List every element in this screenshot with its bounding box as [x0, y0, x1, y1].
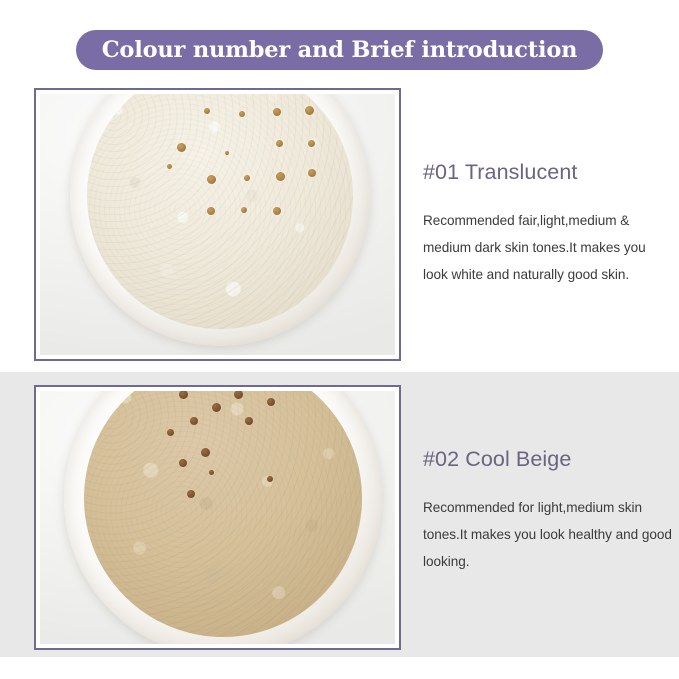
header-banner: Colour number and Brief introduction [76, 30, 604, 70]
sifter-hole-icon [204, 108, 210, 114]
header-banner-container: Colour number and Brief introduction [0, 30, 679, 70]
sifter-hole-icon [167, 164, 172, 169]
shade-description-01: Recommended fair,light,medium & medium d… [423, 208, 673, 289]
sifter-hole-icon [244, 175, 250, 181]
sifter-hole-icon [179, 391, 188, 399]
sifter-hole-icon [239, 111, 245, 117]
page-title: Colour number and Brief introduction [102, 39, 578, 62]
shade-section-02: #02 Cool Beige Recommended for light,med… [0, 385, 679, 650]
shade-text-column-01: #01 Translucent Recommended fair,light,m… [423, 88, 673, 289]
product-photo-02 [40, 391, 395, 644]
sifter-hole-icon [190, 417, 198, 425]
sifter-hole-icon [245, 417, 253, 425]
sifter-hole-icon [179, 459, 187, 467]
powder-jar-01 [70, 94, 370, 346]
sifter-hole-icon [276, 172, 285, 181]
sifter-hole-icon [201, 448, 210, 457]
sifter-hole-icon [308, 169, 316, 177]
sifter-hole-icon [212, 403, 221, 412]
sifter-hole-icon [167, 429, 174, 436]
product-photo-frame-01 [34, 88, 401, 361]
sifter-hole-icon [305, 106, 314, 115]
product-photo-01 [40, 94, 395, 355]
sifter-hole-icon [276, 140, 283, 147]
powder-surface-02 [84, 391, 362, 637]
sifter-hole-icon [273, 108, 281, 116]
shade-text-column-02: #02 Cool Beige Recommended for light,med… [423, 385, 673, 576]
sifter-hole-icon [267, 476, 273, 482]
sifter-hole-icon [207, 207, 215, 215]
sifter-hole-icon [225, 151, 229, 155]
shade-section-01: #01 Translucent Recommended fair,light,m… [0, 88, 679, 361]
sifter-hole-icon [308, 140, 315, 147]
powder-surface-01 [87, 94, 353, 329]
sifter-hole-icon [177, 143, 186, 152]
sifter-hole-icon [207, 175, 216, 184]
sifter-hole-icon [209, 470, 214, 475]
sifter-hole-icon [187, 490, 195, 498]
sifter-hole-icon [273, 207, 281, 215]
powder-jar-02 [64, 391, 382, 644]
product-photo-frame-02 [34, 385, 401, 650]
shade-title-02: #02 Cool Beige [423, 447, 673, 473]
sifter-hole-icon [241, 207, 247, 213]
sifter-hole-icon [267, 398, 275, 406]
sifter-hole-icon [234, 391, 243, 399]
shade-title-01: #01 Translucent [423, 160, 673, 186]
shade-description-02: Recommended for light,medium skin tones.… [423, 495, 673, 576]
